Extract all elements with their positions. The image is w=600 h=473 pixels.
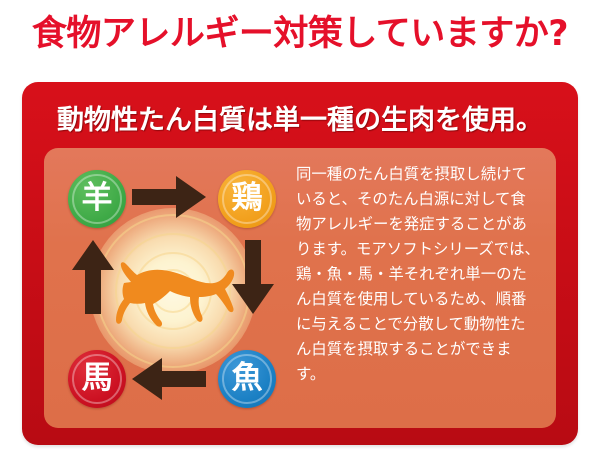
arrow-down-icon [232, 240, 274, 314]
running-dog-icon [110, 246, 238, 332]
page-title: 食物アレルギー対策していますか? [0, 14, 600, 54]
badge-chicken[interactable]: 鶏 [218, 170, 276, 228]
badge-horse-label: 馬 [82, 363, 113, 394]
badge-sheep[interactable]: 羊 [68, 170, 126, 228]
arrow-up-icon [72, 240, 114, 314]
badge-chicken-label: 鶏 [232, 183, 263, 214]
card-title: 動物性たん白質は単一種の生肉を使用。 [22, 98, 578, 137]
badge-sheep-label: 羊 [82, 183, 113, 214]
card-body-text: 同一種のたん白質を摂取し続けていると、そのたん白源に対して食物アレルギーを発症す… [296, 162, 540, 387]
arrow-left-icon [132, 358, 206, 400]
badge-horse[interactable]: 馬 [68, 350, 126, 408]
card-body-panel: 羊 鶏 魚 馬 [44, 148, 556, 428]
badge-fish[interactable]: 魚 [218, 350, 276, 408]
card-body-paragraph: 同一種のたん白質を摂取し続けていると、そのたん白源に対して食物アレルギーを発症す… [296, 162, 540, 387]
badge-fish-label: 魚 [232, 363, 263, 394]
protein-rotation-diagram: 羊 鶏 魚 馬 [52, 154, 292, 422]
arrow-right-icon [132, 176, 206, 218]
info-card: 動物性たん白質は単一種の生肉を使用。 羊 鶏 魚 [22, 82, 578, 445]
